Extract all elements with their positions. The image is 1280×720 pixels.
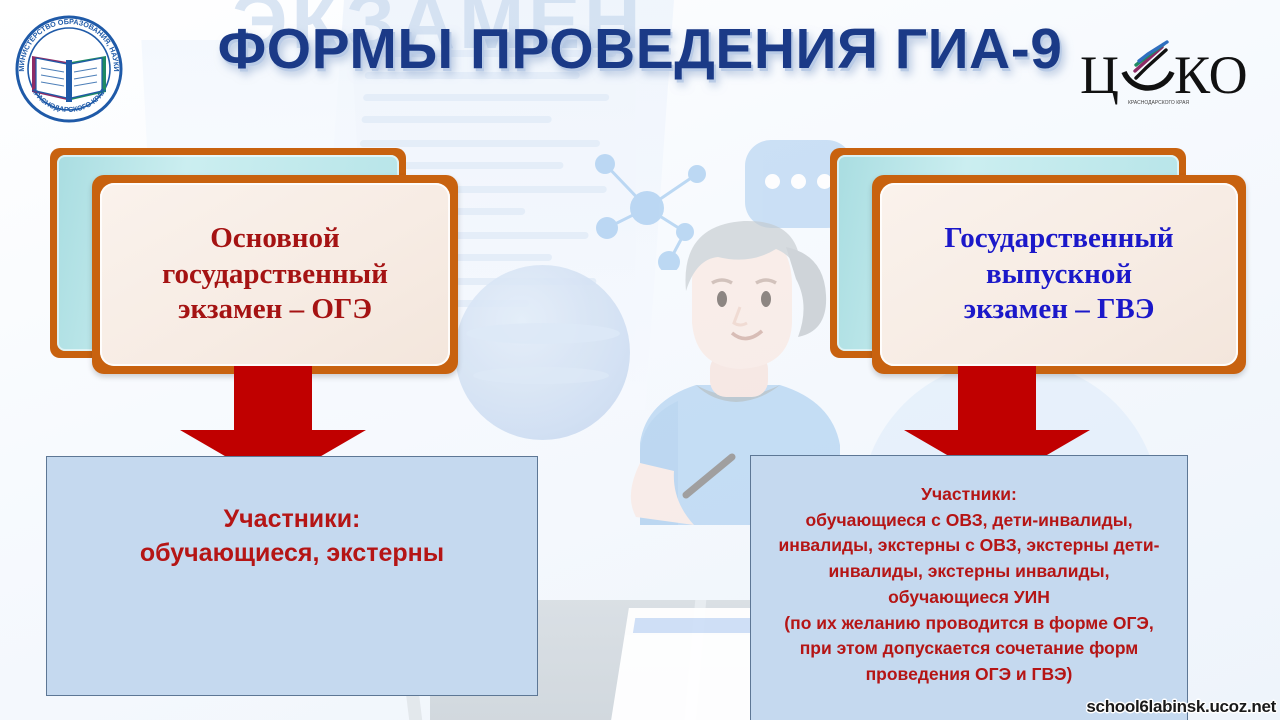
- card-gve-line-1: Государственный: [944, 222, 1173, 254]
- participants-box-gve: Участники: обучающиеся с ОВЗ, дети-инвал…: [750, 455, 1188, 720]
- slide-canvas: ЭКЗАМЕН МИНИСТЕРСТВО ОБРАЗОВАНИЯ, НАУКИ …: [0, 0, 1280, 720]
- participants-gve-line-2: обучающиеся с ОВЗ, дети-инвалиды,: [805, 508, 1132, 534]
- participants-gve-line-6: (по их желанию проводится в форме ОГЭ,: [784, 611, 1153, 637]
- card-oge-line-2: государственный: [162, 258, 388, 290]
- participants-gve-line-1: Участники:: [921, 482, 1017, 508]
- card-oge-line-3: экзамен – ОГЭ: [178, 293, 372, 325]
- card-oge-front[interactable]: Основной государственный экзамен – ОГЭ: [92, 175, 458, 374]
- coco-logo-subtext: КРАСНОДАРСКОГО КРАЯ: [1128, 100, 1189, 106]
- participants-box-oge: Участники: обучающиеся, экстерны: [46, 456, 538, 696]
- participants-oge-line-2: обучающиеся, экстерны: [140, 537, 444, 571]
- participants-gve-line-7: при этом допускается сочетание форм: [800, 636, 1139, 662]
- participants-oge-line-1: Участники:: [224, 503, 361, 537]
- card-gve-front[interactable]: Государственный выпускной экзамен – ГВЭ: [872, 175, 1246, 374]
- participants-gve-line-8: проведения ОГЭ и ГВЭ): [866, 662, 1073, 688]
- participants-gve-line-3: инвалиды, экстерны с ОВЗ, экстерны дети-: [779, 533, 1160, 559]
- page-title: ФОРМЫ ПРОВЕДЕНИЯ ГИА-9: [0, 16, 1280, 82]
- site-watermark: school6labinsk.ucoz.net: [1086, 697, 1276, 717]
- card-gve-line-3: экзамен – ГВЭ: [964, 293, 1155, 325]
- card-gve-line-2: выпускной: [986, 258, 1132, 290]
- participants-gve-line-5: обучающиеся УИН: [888, 585, 1050, 611]
- participants-gve-line-4: инвалиды, экстерны инвалиды,: [829, 559, 1110, 585]
- card-oge-line-1: Основной: [210, 222, 340, 254]
